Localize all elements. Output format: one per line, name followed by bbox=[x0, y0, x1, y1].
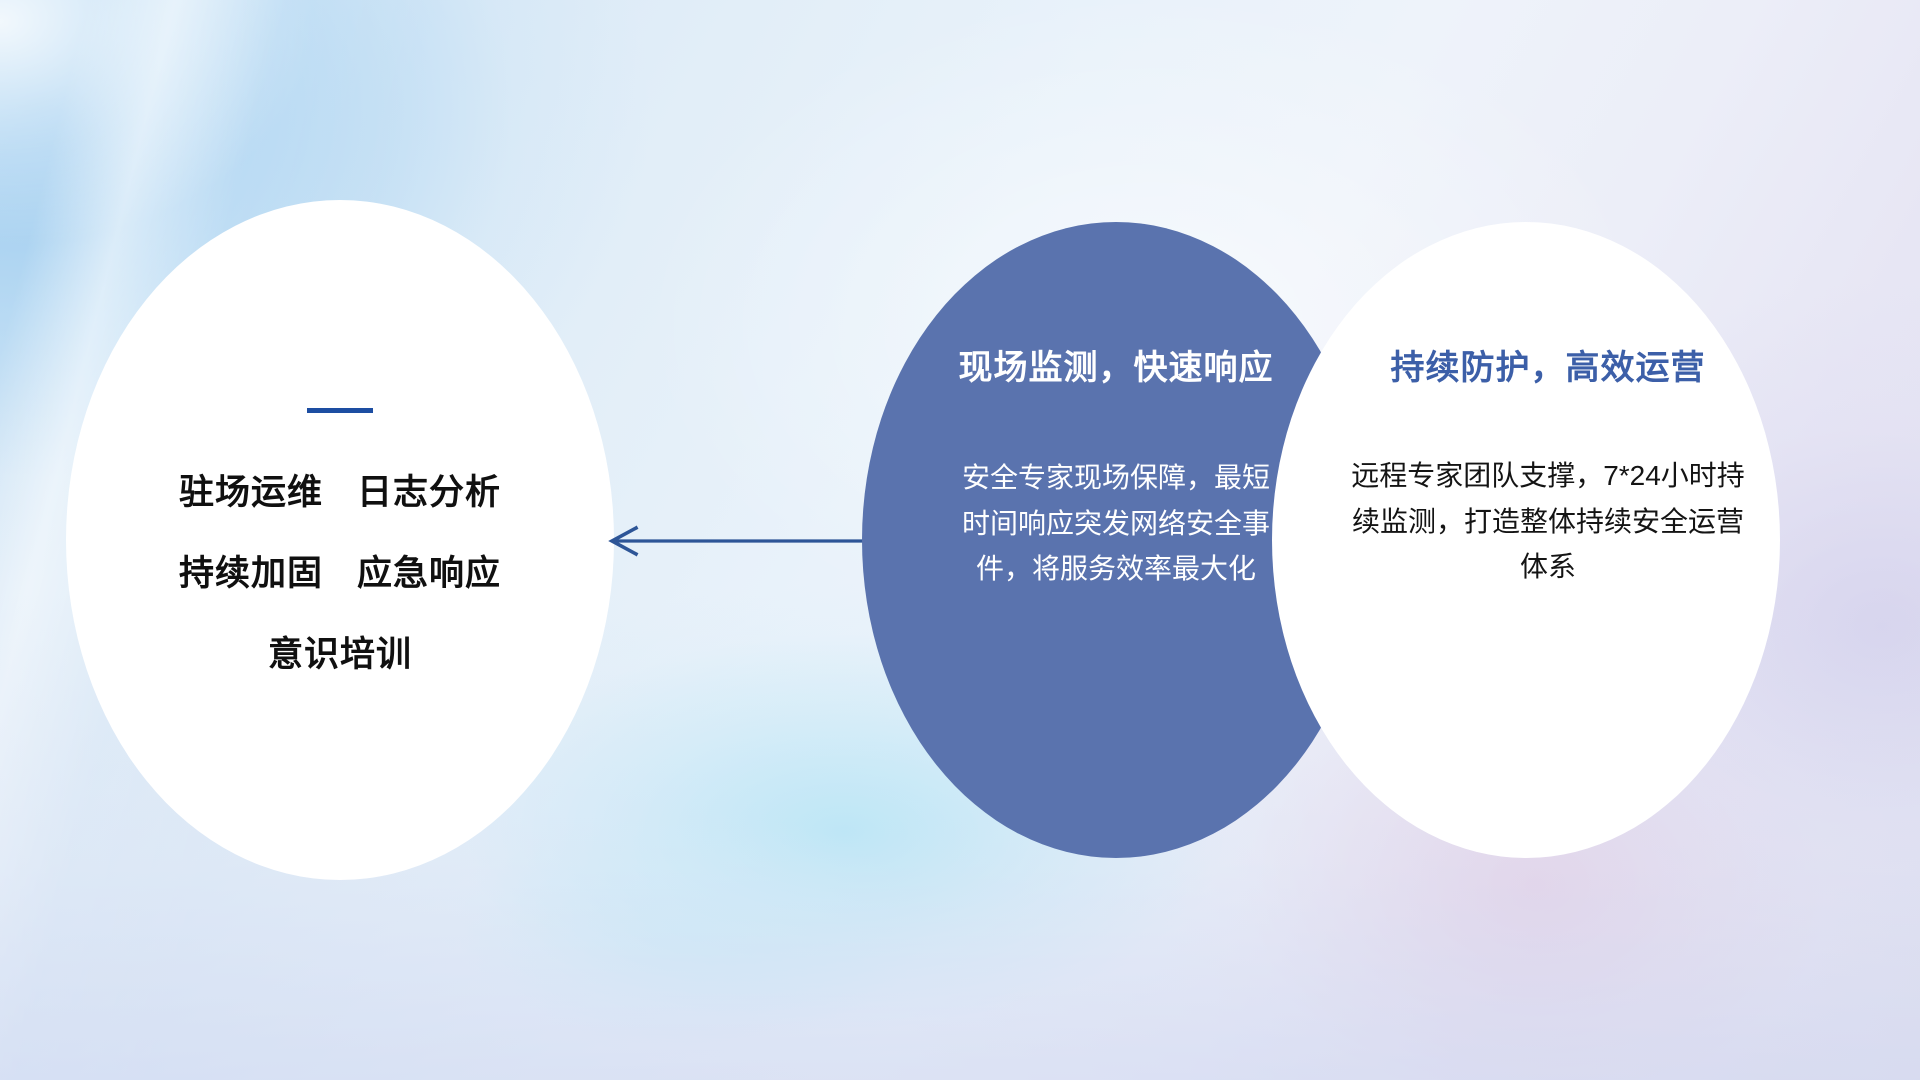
capability-row: 驻场运维 日志分析 bbox=[179, 475, 501, 510]
capability-row: 意识培训 bbox=[268, 637, 412, 672]
circle-body-text: 远程专家团队支撑，7*24小时持续监测，打造整体持续安全运营体系 bbox=[1348, 453, 1748, 589]
circle-title: 持续防护，高效运营 bbox=[1391, 350, 1706, 387]
capability-circle-right-content: 持续防护，高效运营 远程专家团队支撑，7*24小时持续监测，打造整体持续安全运营… bbox=[1272, 222, 1780, 858]
capability-circle-left-content: 驻场运维 日志分析 持续加固 应急响应 意识培训 bbox=[66, 200, 614, 880]
capability-item: 驻场运维 bbox=[179, 475, 323, 510]
capability-circle-right[interactable]: 持续防护，高效运营 远程专家团队支撑，7*24小时持续监测，打造整体持续安全运营… bbox=[1272, 222, 1780, 858]
capability-item: 应急响应 bbox=[357, 556, 501, 591]
circle-body-text: 安全专家现场保障，最短时间响应突发网络安全事件，将服务效率最大化 bbox=[960, 455, 1272, 591]
arrow-left-icon bbox=[590, 518, 890, 564]
slide-canvas: 驻场运维 日志分析 持续加固 应急响应 意识培训 现场监测，快速响应 安全专家现… bbox=[0, 0, 1920, 1080]
capability-item: 持续加固 bbox=[179, 556, 323, 591]
divider-dash bbox=[307, 408, 373, 413]
capability-list: 驻场运维 日志分析 持续加固 应急响应 意识培训 bbox=[179, 475, 501, 672]
capability-item: 意识培训 bbox=[268, 637, 412, 672]
circle-title: 现场监测，快速响应 bbox=[959, 350, 1274, 387]
capability-circle-left[interactable]: 驻场运维 日志分析 持续加固 应急响应 意识培训 bbox=[66, 200, 614, 880]
capability-item: 日志分析 bbox=[357, 475, 501, 510]
capability-row: 持续加固 应急响应 bbox=[179, 556, 501, 591]
